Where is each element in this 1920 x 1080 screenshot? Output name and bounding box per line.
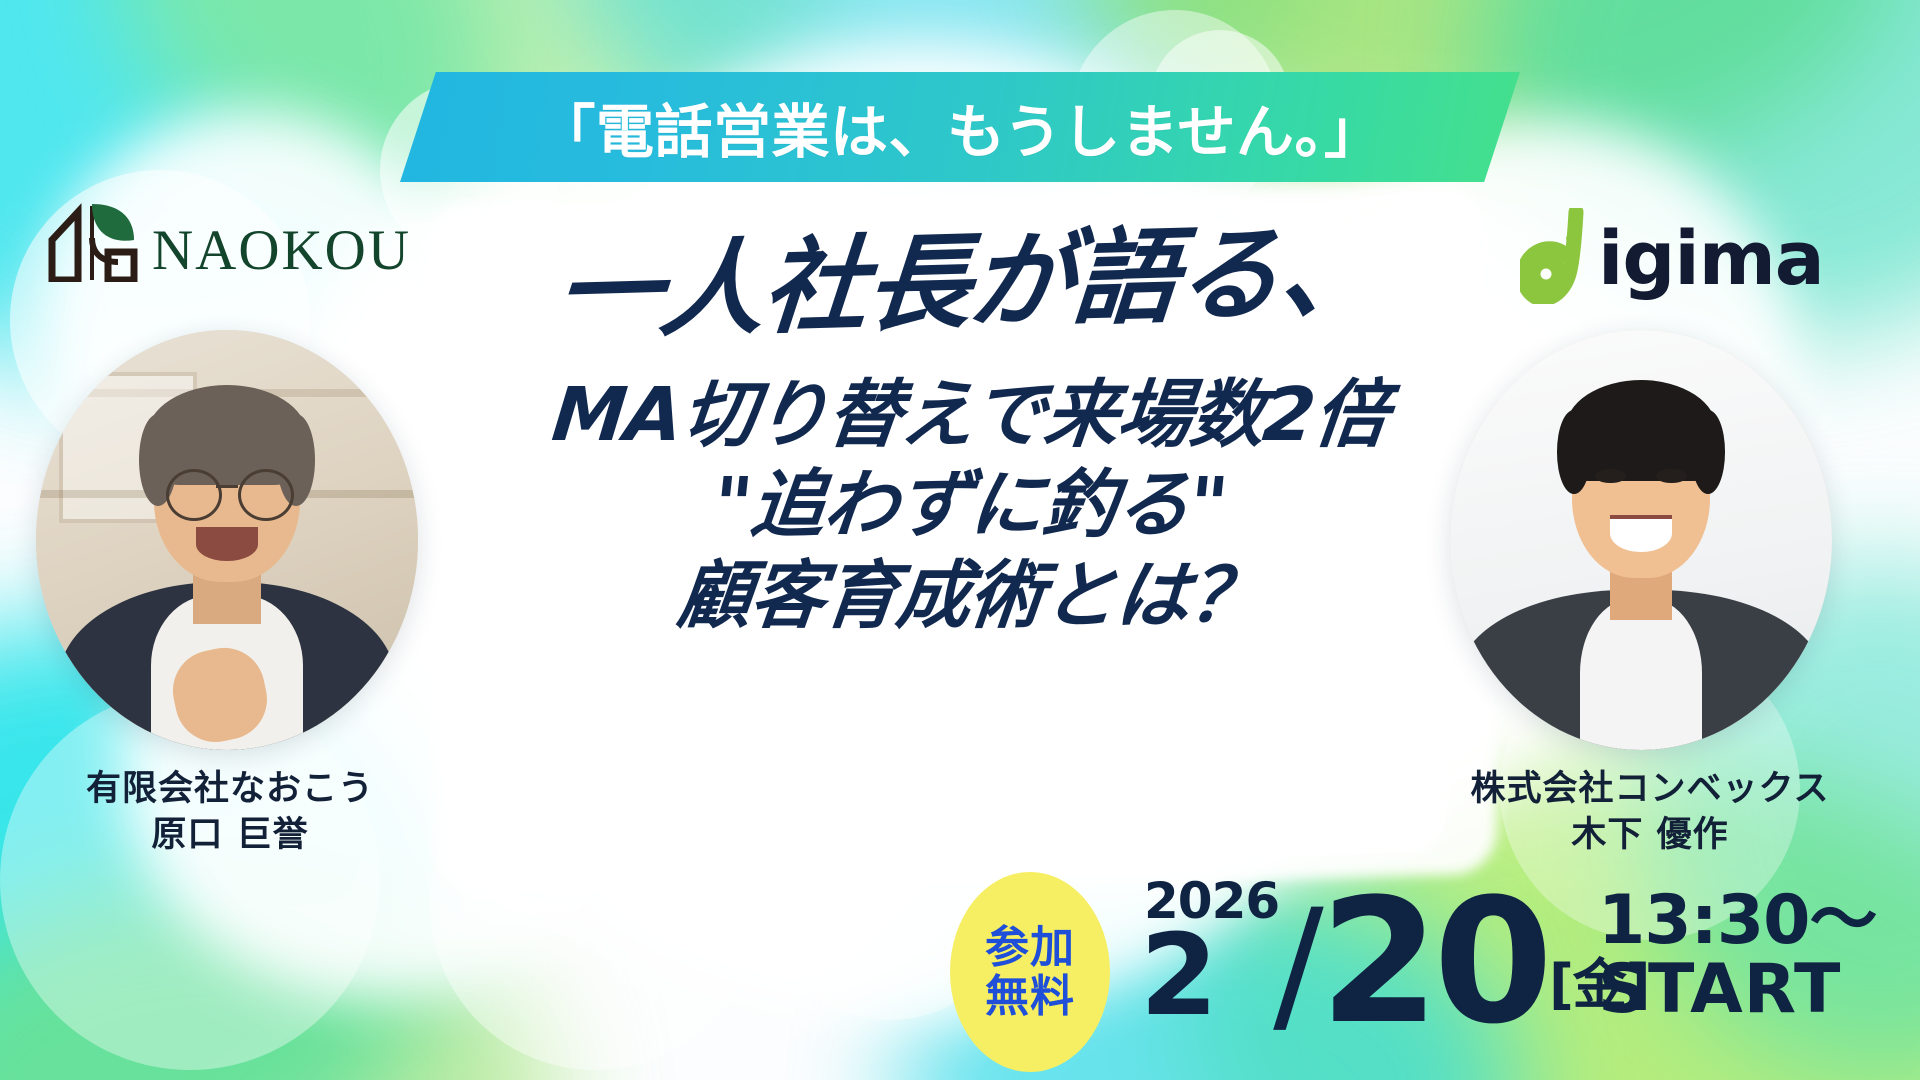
speaker-company-left: 有限会社なおこう <box>10 766 450 812</box>
headline-ribbon: 「電話営業は、もうしません。」 <box>400 72 1520 182</box>
free-badge-line-2: 無料 <box>985 972 1075 1021</box>
speaker-company-right: 株式会社コンベックス <box>1420 766 1880 812</box>
title-line-2: MA切り替えで来場数2倍 <box>435 370 1504 460</box>
title-line-3: "追わずに釣る" <box>435 460 1504 550</box>
speaker-caption-left: 有限会社なおこう 原口 巨誉 <box>10 766 450 858</box>
digima-leaf-d-icon <box>1520 208 1598 309</box>
digima-logo-text: igima <box>1598 222 1824 296</box>
speaker-name-left: 原口 巨誉 <box>10 812 450 858</box>
speaker-caption-right: 株式会社コンベックス 木下 優作 <box>1420 766 1880 858</box>
title-line-4: 顧客育成術とは？ <box>435 551 1504 641</box>
headline-ribbon-text: 「電話営業は、もうしません。」 <box>537 85 1382 169</box>
status-badge: 参加 無料 <box>950 872 1110 1072</box>
digima-logo: igima <box>1520 208 1824 309</box>
event-start-time: 13:30〜 <box>1598 886 1876 955</box>
speaker-name-right: 木下 優作 <box>1420 812 1880 858</box>
speaker-photo-kinoshita <box>1450 330 1832 750</box>
event-time: 13:30〜 START <box>1598 886 1876 1025</box>
webinar-banner: 「電話営業は、もうしません。」 NAOKOU igima <box>0 0 1920 1080</box>
event-day: 20 <box>1320 893 1547 1031</box>
naokou-logo: NAOKOU <box>48 196 411 282</box>
building-leaf-icon <box>48 196 140 282</box>
title-line-1: 一人社長が語る、 <box>434 213 1505 351</box>
event-month: 2 <box>1140 928 1215 1024</box>
date-separator: / <box>1273 907 1324 1024</box>
avatar <box>36 330 418 750</box>
event-start-label: START <box>1598 955 1876 1024</box>
speaker-photo-haraguchi <box>36 330 418 750</box>
avatar <box>1450 330 1832 750</box>
free-badge-line-1: 参加 <box>985 923 1075 972</box>
event-date: 2026 2 / 20 [金] <box>1140 876 1649 1024</box>
naokou-logo-text: NAOKOU <box>152 222 411 279</box>
free-badge-text: 参加 無料 <box>985 923 1075 1022</box>
page-title: 一人社長が語る、 MA切り替えで来場数2倍 "追わずに釣る" 顧客育成術とは？ <box>440 228 1500 641</box>
